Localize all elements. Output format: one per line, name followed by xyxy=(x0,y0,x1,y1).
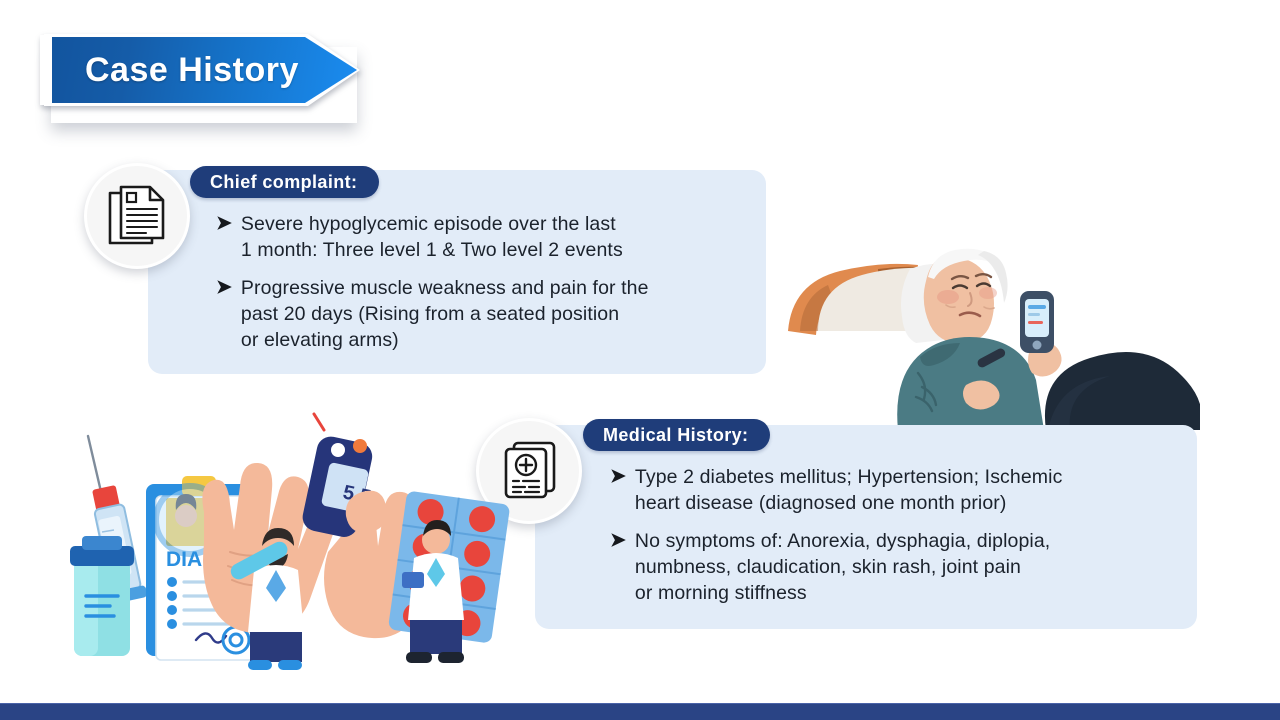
diabetes-scene: DIABETES xyxy=(62,400,512,670)
documents-icon xyxy=(106,183,168,249)
test-strip xyxy=(314,414,324,430)
cheek-left xyxy=(937,290,959,304)
bottom-accent-bar xyxy=(0,703,1280,720)
slide-canvas: Case History Chief complaint: ➤ Severe h… xyxy=(0,0,1280,720)
arrow-bullet-icon: ➤ xyxy=(216,275,232,301)
meter-reading-bar xyxy=(1028,305,1046,309)
bullet-text: Type 2 diabetes mellitus; Hypertension; … xyxy=(635,464,1063,516)
bullet-line: numbness, claudication, skin rash, joint… xyxy=(635,556,1021,578)
diabetes-care-illustration: DIABETES xyxy=(62,400,512,670)
doctor2-tablet xyxy=(402,572,424,588)
medical-history-heading: Medical History: xyxy=(583,419,770,451)
meter-line xyxy=(1028,313,1040,316)
bullet-line: heart disease (diagnosed one month prior… xyxy=(635,492,1007,514)
title-banner: Case History xyxy=(47,37,357,103)
list-item: ➤ Severe hypoglycemic episode over the l… xyxy=(216,211,756,263)
banner-left-tab xyxy=(40,35,52,105)
meter-alert-line xyxy=(1028,321,1043,324)
bullet-line: 1 month: Three level 1 & Two level 2 eve… xyxy=(241,239,623,261)
bullet-line: or elevating arms) xyxy=(241,329,399,351)
meter-btn-orange xyxy=(353,439,367,453)
bullet-text: Progressive muscle weakness and pain for… xyxy=(241,275,649,353)
arrow-bullet-icon: ➤ xyxy=(216,211,232,237)
bullet-line: or morning stiffness xyxy=(635,582,807,604)
chief-complaint-bullets: ➤ Severe hypoglycemic episode over the l… xyxy=(216,211,756,365)
doctor-shoe-r xyxy=(278,660,302,670)
cheek-right xyxy=(979,287,997,299)
bullet-line: Severe hypoglycemic episode over the las… xyxy=(241,213,616,235)
doctor2-trousers xyxy=(410,620,462,654)
doctor-trousers xyxy=(250,632,302,662)
list-item: ➤ Progressive muscle weakness and pain f… xyxy=(216,275,756,353)
patient-scene xyxy=(770,235,1200,430)
page-title: Case History xyxy=(85,37,299,103)
doctor2-shoe-l xyxy=(406,652,432,663)
bullet-text: No symptoms of: Anorexia, dysphagia, dip… xyxy=(635,528,1050,606)
meter-screen xyxy=(1025,299,1049,337)
bullet-line: past 20 days (Rising from a seated posit… xyxy=(241,303,619,325)
meter-button xyxy=(1033,341,1042,350)
arrow-bullet-icon: ➤ xyxy=(610,464,626,490)
bullet-text: Severe hypoglycemic episode over the las… xyxy=(241,211,623,263)
doctor-shoe-l xyxy=(248,660,272,670)
bullet-line: No symptoms of: Anorexia, dysphagia, dip… xyxy=(635,530,1050,552)
bullet-line: Type 2 diabetes mellitus; Hypertension; … xyxy=(635,466,1063,488)
bullet-line: Progressive muscle weakness and pain for… xyxy=(241,277,649,299)
meter-btn-white xyxy=(331,443,345,457)
chief-complaint-icon-badge xyxy=(84,163,190,269)
insulin-vial xyxy=(70,536,134,656)
list-item: ➤ No symptoms of: Anorexia, dysphagia, d… xyxy=(610,528,1190,606)
doctor2-shoe-r xyxy=(438,652,464,663)
medical-history-bullets: ➤ Type 2 diabetes mellitus; Hypertension… xyxy=(610,464,1190,618)
elderly-patient-illustration xyxy=(770,235,1200,430)
chief-complaint-heading: Chief complaint: xyxy=(190,166,379,198)
arrow-bullet-icon: ➤ xyxy=(610,528,626,554)
list-item: ➤ Type 2 diabetes mellitus; Hypertension… xyxy=(610,464,1190,516)
